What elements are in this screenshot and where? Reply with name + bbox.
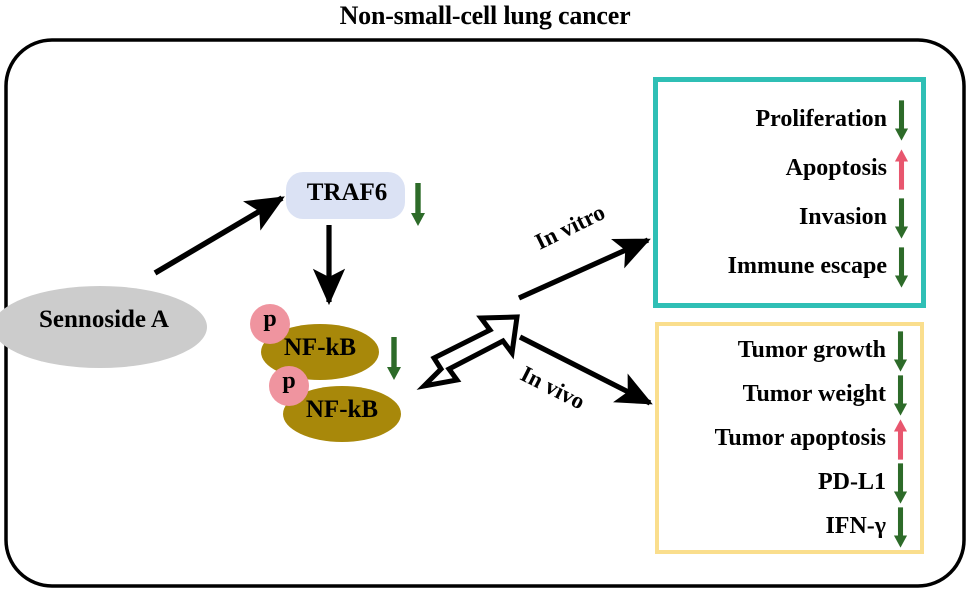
phospho-label-lower: p [272, 368, 306, 395]
in-vivo-outcome-row: PD-L1 [665, 460, 908, 504]
down-arrow-icon [893, 462, 908, 502]
pathway-figure: Non-small-cell lung cancer Senn [0, 0, 970, 594]
phospho-label-upper: p [253, 306, 287, 333]
in-vitro-outcome-label: Immune escape [728, 253, 887, 280]
in-vivo-outcome-label: PD-L1 [818, 469, 886, 496]
up-arrow-icon [894, 148, 909, 188]
in-vitro-outcome-row: Apoptosis [664, 144, 909, 193]
in-vivo-outcome-row: IFN-γ [665, 504, 908, 548]
in-vitro-outcome-row: Proliferation [664, 95, 909, 144]
in-vivo-outcome-label: IFN-γ [825, 513, 886, 540]
up-arrow-icon [893, 418, 908, 458]
down-arrow-icon [894, 99, 909, 139]
in-vitro-outcome-label: Apoptosis [786, 155, 887, 182]
in-vitro-outcome-row: Immune escape [664, 242, 909, 291]
in-vitro-outcome-list: ProliferationApoptosisInvasionImmune esc… [658, 82, 921, 303]
down-arrow-icon [894, 246, 909, 286]
down-arrow-icon [893, 506, 908, 546]
traf6-down-arrow-icon [410, 183, 426, 232]
block-arrow [424, 317, 517, 386]
connector-drug-to-traf6 [155, 198, 282, 273]
in-vitro-outcome-box: ProliferationApoptosisInvasionImmune esc… [653, 77, 926, 308]
in-vitro-outcome-label: Proliferation [755, 106, 887, 133]
in-vivo-outcome-box: Tumor growthTumor weightTumor apoptosisP… [655, 322, 924, 554]
in-vivo-outcome-label: Tumor weight [743, 381, 886, 408]
in-vivo-outcome-row: Tumor weight [665, 372, 908, 416]
nfkb-upper-label: NF-kB [261, 334, 379, 362]
down-arrow-icon [893, 330, 908, 370]
traf6-label: TRAF6 [288, 179, 406, 207]
nfkb-lower-label: NF-kB [283, 396, 401, 424]
in-vitro-outcome-row: Invasion [664, 193, 909, 242]
in-vivo-outcome-row: Tumor apoptosis [665, 416, 908, 460]
nfkb-down-arrow-icon [386, 337, 402, 386]
in-vivo-outcome-row: Tumor growth [665, 328, 908, 372]
in-vivo-outcome-label: Tumor growth [738, 337, 886, 364]
in-vitro-outcome-label: Invasion [799, 204, 887, 231]
in-vivo-outcome-list: Tumor growthTumor weightTumor apoptosisP… [659, 326, 920, 550]
in-vivo-outcome-label: Tumor apoptosis [715, 425, 886, 452]
down-arrow-icon [893, 374, 908, 414]
sennoside-a-label: Sennoside A [0, 306, 208, 334]
down-arrow-icon [894, 197, 909, 237]
